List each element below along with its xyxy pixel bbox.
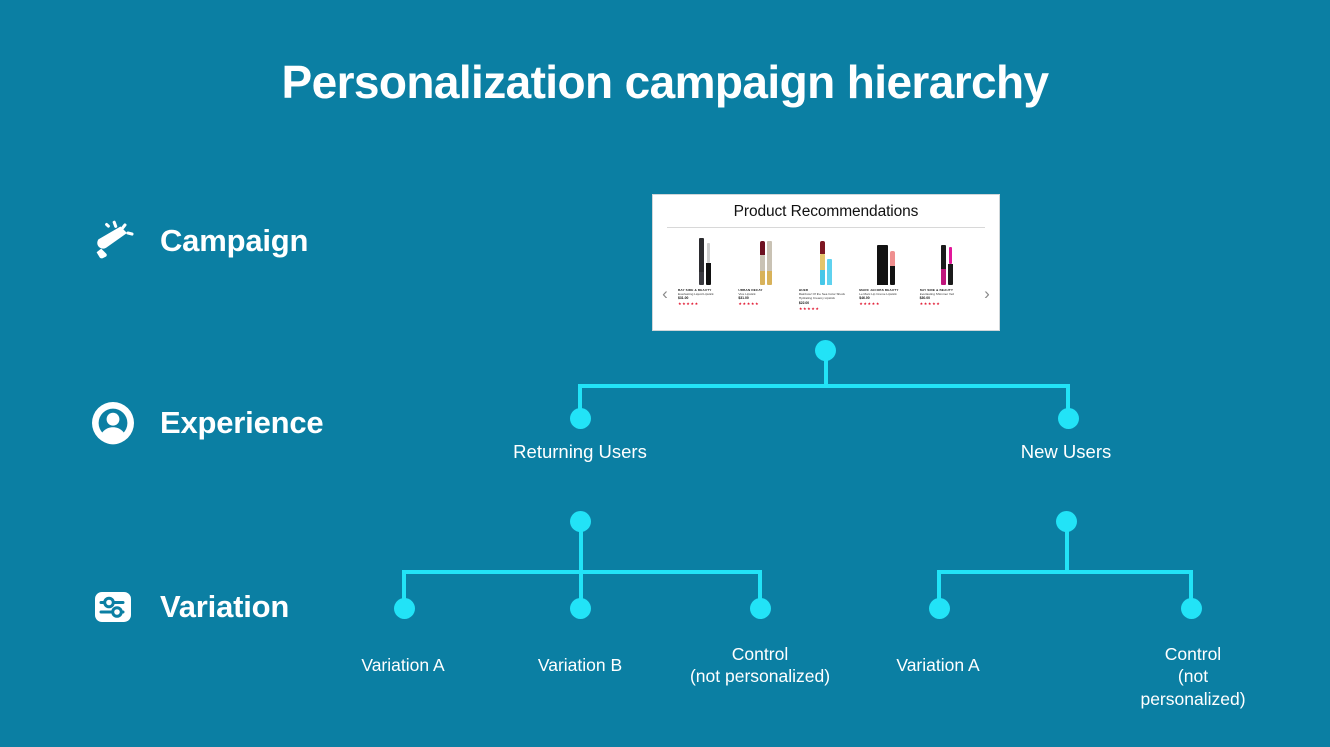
variation-node-a-returning[interactable] xyxy=(394,598,415,619)
variation-label-control-new: Control (not personalized) xyxy=(1125,643,1262,710)
connector-variation-bar-right xyxy=(937,570,1193,574)
connector-experience-bar xyxy=(578,384,1070,388)
variation-node-b-returning[interactable] xyxy=(570,598,591,619)
variation-label-control-returning: Control (not personalized) xyxy=(690,643,830,688)
slide-canvas: Personalization campaign hierarchy Campa… xyxy=(0,0,1330,747)
connector-variation-stem-right xyxy=(1065,521,1069,573)
connector-variation-bar-left xyxy=(402,570,762,574)
experience-node-returning-users[interactable] xyxy=(570,408,591,429)
variation-label-b-returning: Variation B xyxy=(538,654,622,676)
hierarchy-tree: Returning Users New Users Variation A Va… xyxy=(0,0,1330,747)
experience-node-new-users[interactable] xyxy=(1058,408,1079,429)
variation-label-a-new: Variation A xyxy=(896,654,979,676)
connector-campaign-stem xyxy=(824,350,828,386)
variation-node-control-new[interactable] xyxy=(1181,598,1202,619)
connector-variation-stem-left xyxy=(579,521,583,606)
experience-label-returning-users: Returning Users xyxy=(513,440,647,464)
variation-node-control-returning[interactable] xyxy=(750,598,771,619)
experience-label-new-users: New Users xyxy=(1021,440,1111,464)
variation-label-a-returning: Variation A xyxy=(361,654,444,676)
variation-node-a-new[interactable] xyxy=(929,598,950,619)
